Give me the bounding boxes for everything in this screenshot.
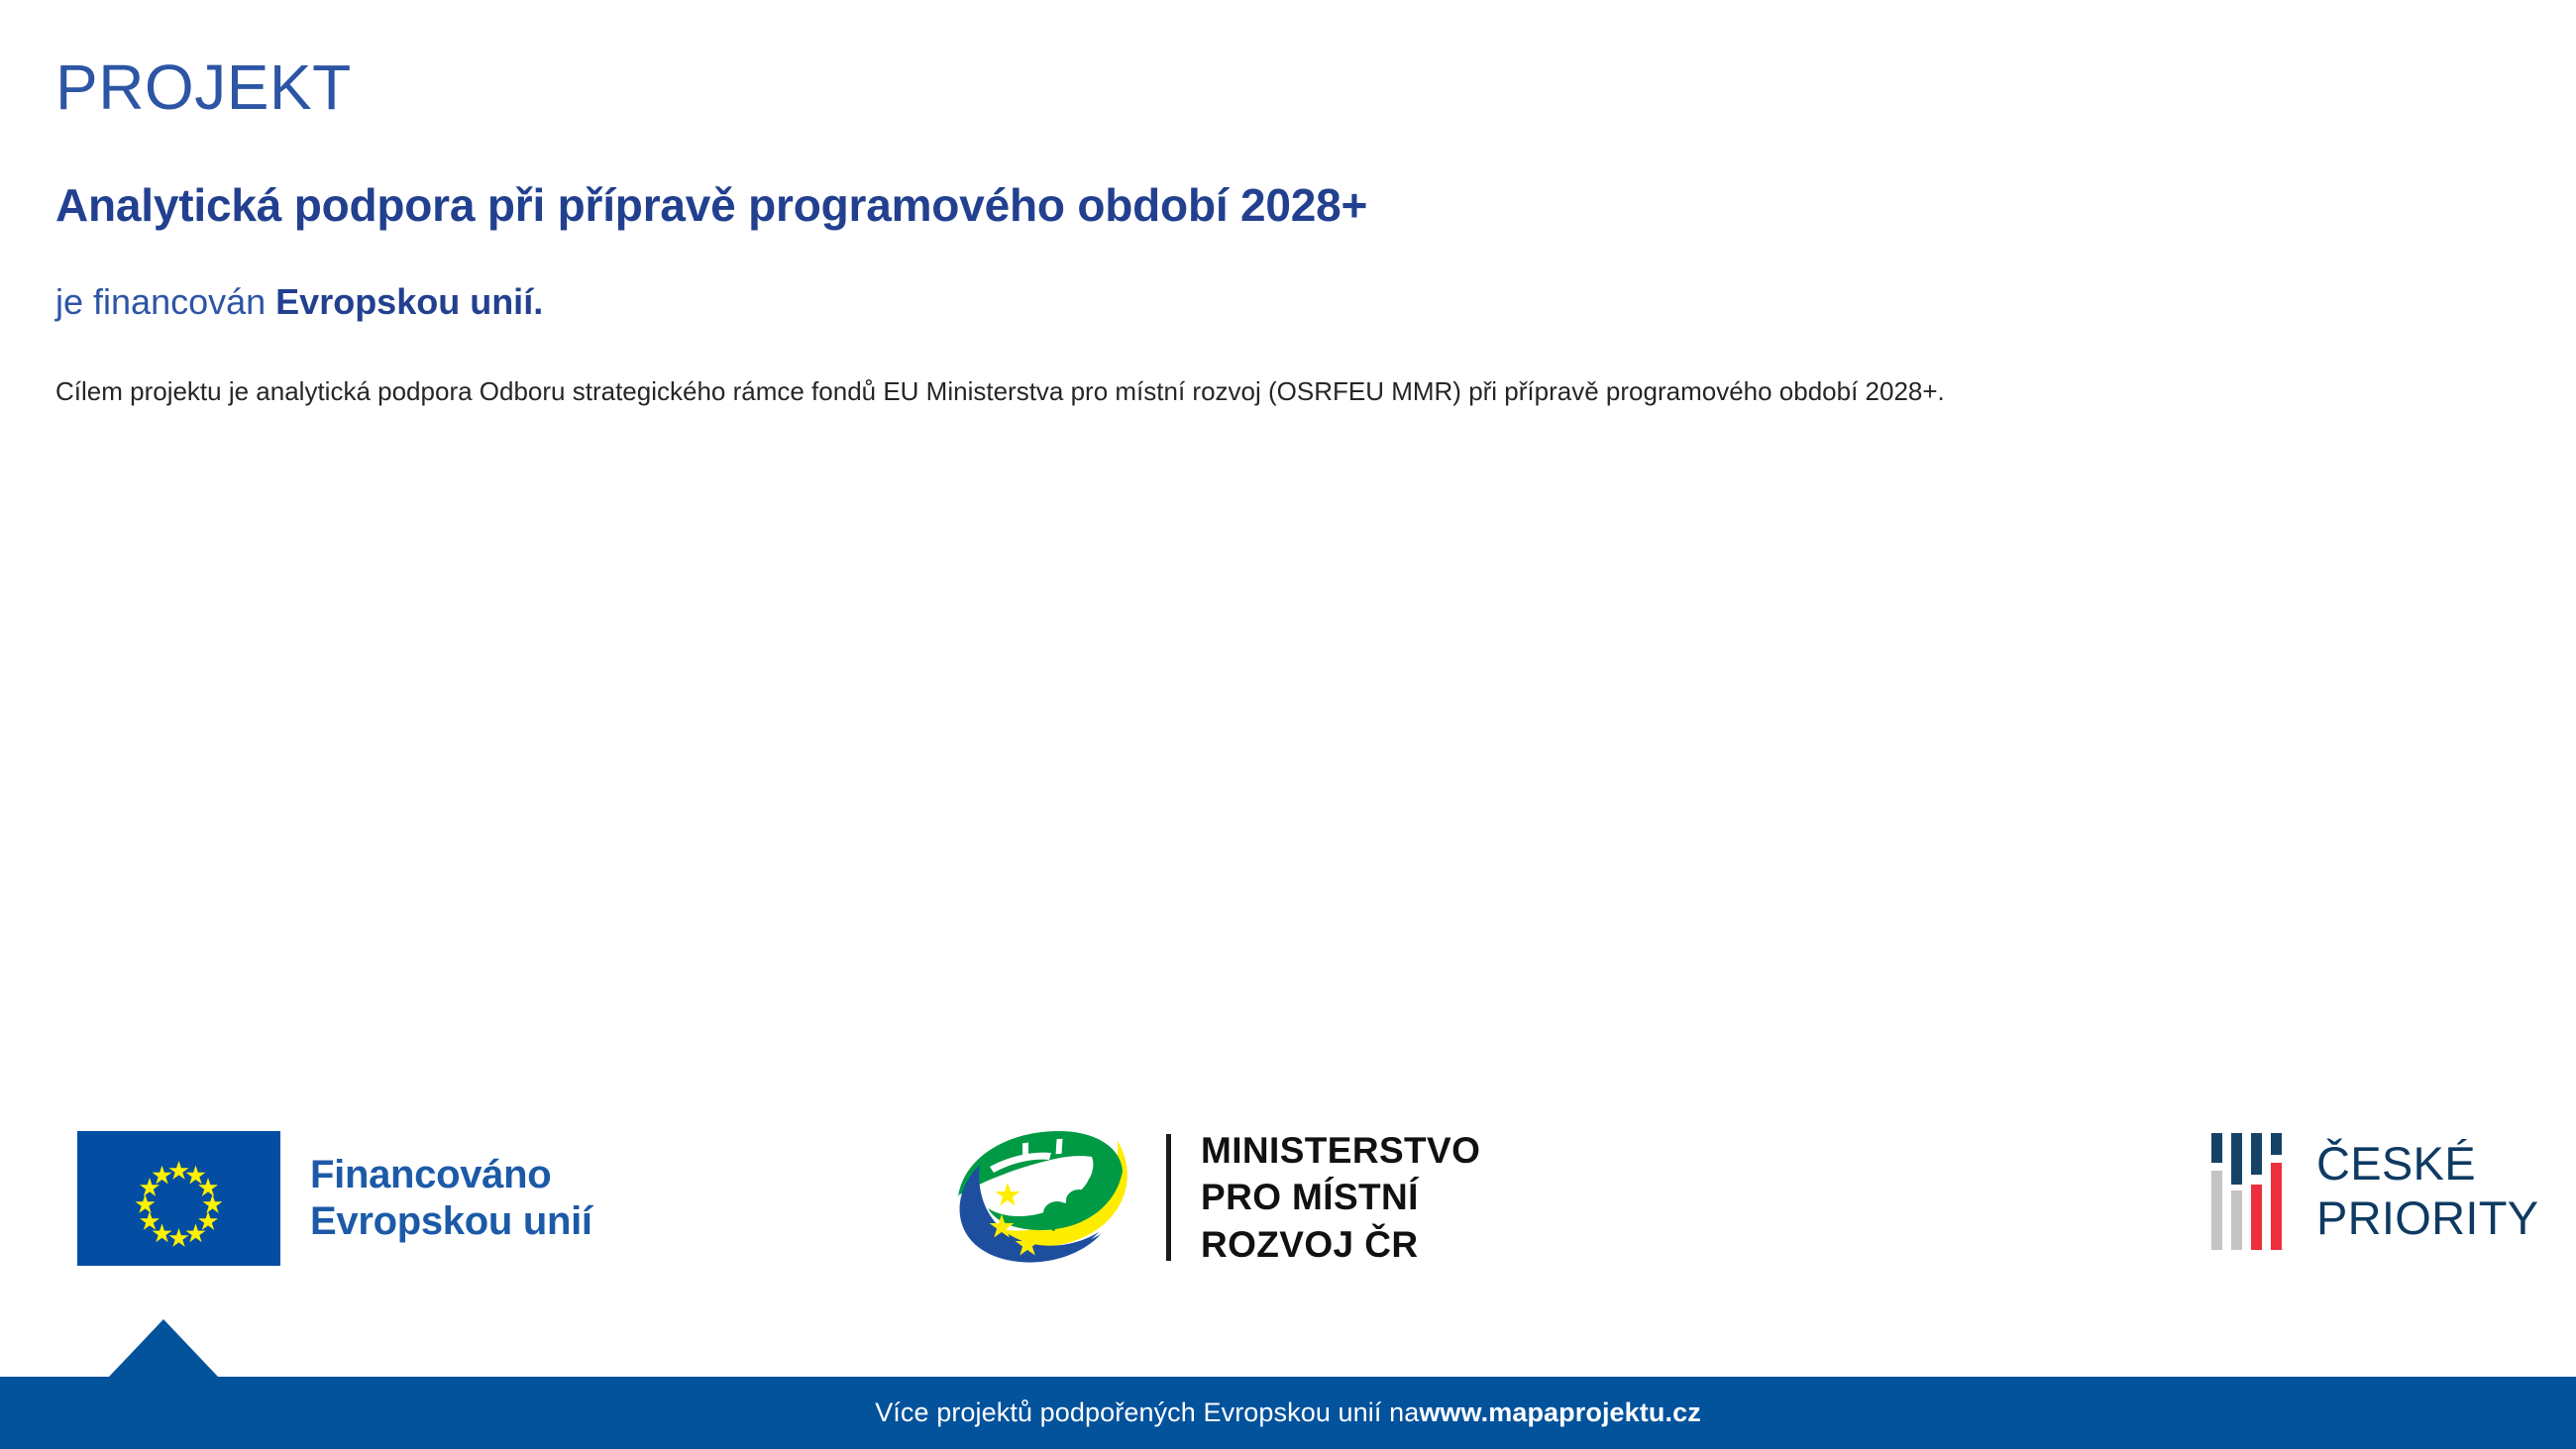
slide-root: PROJEKT Analytická podpora při přípravě … bbox=[0, 0, 2576, 1449]
ceske-priority-line1: ČESKÉ bbox=[2316, 1137, 2538, 1191]
footer-bar: Více projektů podpořených Evropskou unií… bbox=[0, 1377, 2576, 1449]
footer-notch-triangle bbox=[109, 1319, 218, 1377]
logo-ceske-priority: ČESKÉ PRIORITY bbox=[2211, 1133, 2538, 1250]
content-block: PROJEKT Analytická podpora při přípravě … bbox=[55, 0, 2513, 409]
ceske-priority-line2: PRIORITY bbox=[2316, 1191, 2538, 1246]
funding-statement: je financován Evropskou unií. bbox=[55, 280, 2513, 323]
eu-flag-icon bbox=[77, 1131, 280, 1266]
mmr-logo-line1: MINISTERSTVO bbox=[1201, 1127, 1480, 1174]
funding-strong: Evropskou unií. bbox=[275, 281, 543, 322]
footer-url[interactable]: www.mapaprojektu.cz bbox=[1419, 1397, 1700, 1428]
eu-logo-line2: Evropskou unií bbox=[310, 1198, 592, 1245]
page-kicker: PROJEKT bbox=[55, 55, 2513, 119]
project-description: Cílem projektu je analytická podpora Odb… bbox=[55, 374, 2453, 409]
eu-logo-line1: Financováno bbox=[310, 1152, 592, 1198]
eu-logo-text: Financováno Evropskou unií bbox=[310, 1152, 592, 1245]
ceske-priority-logo-text: ČESKÉ PRIORITY bbox=[2316, 1137, 2538, 1245]
page-title: Analytická podpora při přípravě programo… bbox=[55, 178, 2513, 233]
ceske-priority-bars-icon bbox=[2211, 1133, 2289, 1250]
mmr-swoosh-icon bbox=[946, 1123, 1144, 1272]
footer-text: Více projektů podpořených Evropskou unií… bbox=[0, 1377, 2576, 1449]
logo-european-union: Financováno Evropskou unií bbox=[77, 1131, 592, 1266]
logo-row: Financováno Evropskou unií bbox=[0, 1109, 2576, 1297]
mmr-logo-line3: ROZVOJ ČR bbox=[1201, 1221, 1480, 1268]
funding-prefix: je financován bbox=[55, 281, 275, 322]
eu-stars-icon bbox=[77, 1131, 280, 1266]
mmr-divider bbox=[1166, 1134, 1171, 1261]
mmr-logo-text: MINISTERSTVO PRO MÍSTNÍ ROZVOJ ČR bbox=[1201, 1127, 1480, 1268]
mmr-emblem-icon bbox=[946, 1123, 1144, 1272]
logo-ministry-regional-development: MINISTERSTVO PRO MÍSTNÍ ROZVOJ ČR bbox=[946, 1123, 1480, 1272]
mmr-logo-line2: PRO MÍSTNÍ bbox=[1201, 1174, 1480, 1220]
footer-prefix: Více projektů podpořených Evropskou unií… bbox=[875, 1397, 1419, 1428]
